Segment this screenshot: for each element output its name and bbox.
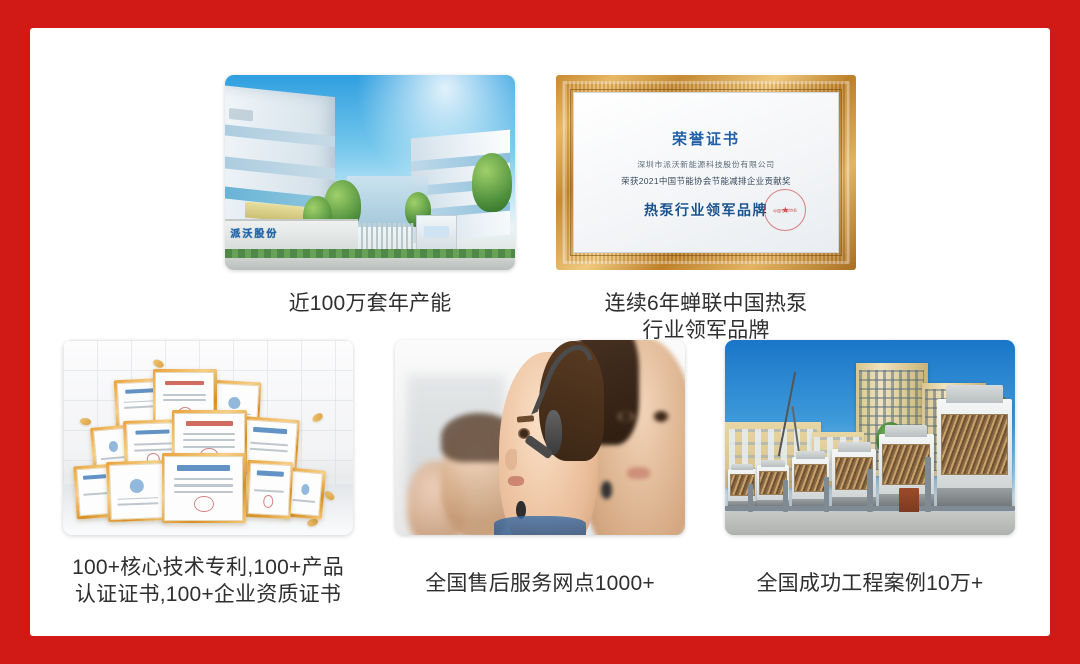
- caption-patents-certificates: 100+核心技术专利,100+产品 认证证书,100+企业资质证书: [63, 554, 353, 608]
- certificate-award-line: 荣获2021中国节能协会节能减排企业贡献奖: [621, 175, 791, 187]
- caption-honor-certificate: 连续6年蝉联中国热泵 行业领军品牌: [556, 290, 856, 344]
- card-patents-certificates[interactable]: 100+核心技术专利,100+产品 认证证书,100+企业资质证书: [63, 340, 353, 535]
- white-content-panel: 派沃股份 近100万套年产能 荣誉证: [30, 28, 1050, 636]
- poster-root: 派沃股份 近100万套年产能 荣誉证: [0, 0, 1080, 664]
- card-factory-capacity[interactable]: 派沃股份 近100万套年产能: [225, 75, 515, 270]
- heat-pump-installation-photo: [725, 340, 1015, 535]
- caption-service-network: 全国售后服务网点1000+: [395, 570, 685, 597]
- caption-factory-capacity: 近100万套年产能: [225, 290, 515, 317]
- card-service-network[interactable]: 全国售后服务网点1000+: [395, 340, 685, 535]
- card-project-cases[interactable]: 全国成功工程案例10万+: [725, 340, 1015, 535]
- caption-project-cases: 全国成功工程案例10万+: [725, 570, 1015, 597]
- top-row: 派沃股份 近100万套年产能 荣誉证: [30, 50, 1050, 330]
- certificate-seal-text: 中国节能协会: [773, 207, 797, 213]
- certificate-company-line: 深圳市派沃新能源科技股份有限公司: [637, 159, 775, 169]
- certificate-title: 荣誉证书: [672, 128, 740, 149]
- card-honor-certificate[interactable]: 荣誉证书 深圳市派沃新能源科技股份有限公司 荣获2021中国节能协会节能减排企业…: [556, 75, 856, 270]
- honor-certificate-photo: 荣誉证书 深圳市派沃新能源科技股份有限公司 荣获2021中国节能协会节能减排企业…: [556, 75, 856, 270]
- award-certificates-wall-photo: [63, 340, 353, 535]
- certificate-brand-line: 热泵行业领军品牌: [644, 200, 768, 220]
- call-center-agents-photo: [395, 340, 685, 535]
- factory-exterior-photo: 派沃股份: [225, 75, 515, 270]
- bottom-row: 100+核心技术专利,100+产品 认证证书,100+企业资质证书: [30, 340, 1050, 630]
- factory-wall-text: 派沃股份: [230, 225, 278, 240]
- certificate-red-seal: ★ 中国节能协会: [764, 189, 806, 231]
